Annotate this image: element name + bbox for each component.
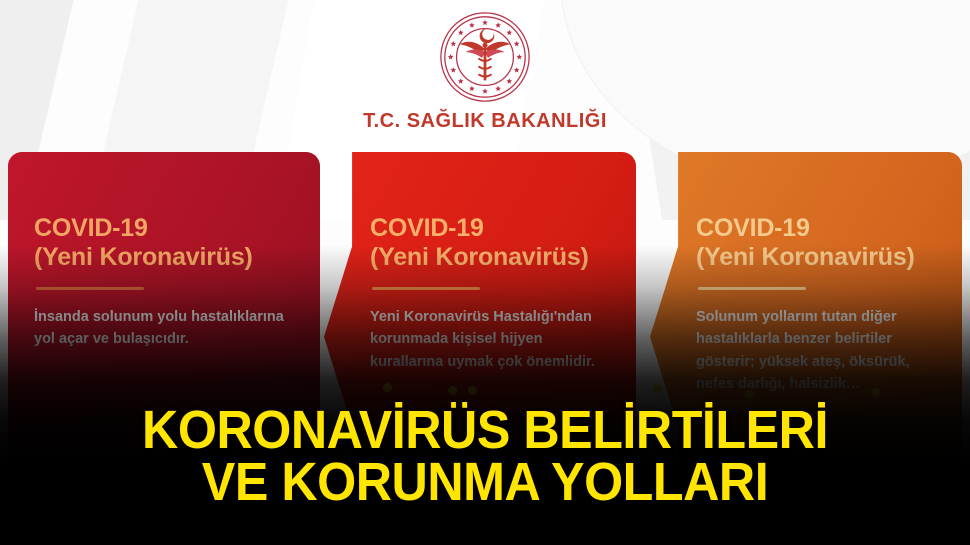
poster-canvas: T.C. SAĞLIK BAKANLIĞI COVID-19 (Yeni Kor… — [0, 0, 970, 545]
panel-divider — [698, 287, 806, 290]
decorative-dot — [383, 383, 392, 392]
panel-heading-line1: COVID-19 — [34, 214, 148, 242]
decorative-dot — [468, 386, 477, 395]
decorative-dot — [448, 386, 457, 395]
panel-divider — [36, 287, 144, 290]
decorative-dot — [745, 390, 754, 399]
panel-heading: COVID-19 (Yeni Koronavirüs) — [34, 214, 294, 272]
panel-heading-line1: COVID-19 — [696, 214, 810, 242]
panel-heading-line1: COVID-19 — [370, 214, 484, 242]
panel-heading: COVID-19 (Yeni Koronavirüs) — [370, 214, 610, 272]
panel-body-text: Yeni Koronavirüs Hastalığı'ndan korunmad… — [370, 306, 610, 373]
ministry-logo-block: T.C. SAĞLIK BAKANLIĞI — [0, 8, 970, 133]
panel-heading-line2: (Yeni Koronavirüs) — [696, 243, 915, 271]
headline: KORONAVİRÜS BELİRTİLERİ VE KORUNMA YOLLA… — [34, 405, 936, 509]
panel-divider — [372, 287, 480, 290]
panel-body-text: Solunum yollarını tutan diğer hastalıkla… — [696, 306, 936, 396]
panel-heading-line2: (Yeni Koronavirüs) — [34, 243, 253, 271]
panel-heading-line2: (Yeni Koronavirüs) — [370, 243, 589, 271]
headline-line2: VE KORUNMA YOLLARI — [34, 457, 936, 509]
headline-line1: KORONAVİRÜS BELİRTİLERİ — [142, 400, 828, 460]
decorative-dot — [871, 388, 880, 397]
ministry-logo-caption: T.C. SAĞLIK BAKANLIĞI — [363, 110, 607, 133]
panel-heading: COVID-19 (Yeni Koronavirüs) — [696, 214, 936, 272]
ministry-of-health-seal-icon — [436, 8, 534, 106]
panel-body-text: İnsanda solunum yolu hastalıklarına yol … — [34, 306, 284, 351]
decorative-dot — [653, 384, 662, 393]
